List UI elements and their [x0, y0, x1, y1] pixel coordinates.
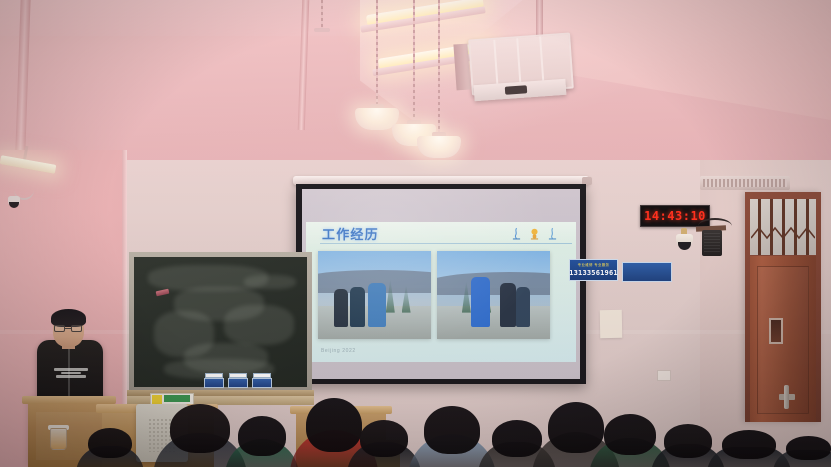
student-head-7: [492, 420, 542, 457]
student-head-1: [88, 428, 132, 458]
student-head-3: [238, 416, 286, 456]
student-head-9: [604, 414, 656, 455]
classroom-scene: 工作经历 Beijing 202: [0, 0, 831, 467]
student-head-4: [306, 398, 362, 452]
student-head-12: [786, 436, 831, 460]
student-head-2: [170, 404, 230, 453]
student-head-11: [722, 430, 776, 459]
student-head-6: [424, 406, 480, 454]
audience: [0, 0, 831, 467]
student-head-8: [548, 402, 604, 453]
student-head-5: [360, 420, 408, 457]
student-head-10: [664, 424, 712, 458]
